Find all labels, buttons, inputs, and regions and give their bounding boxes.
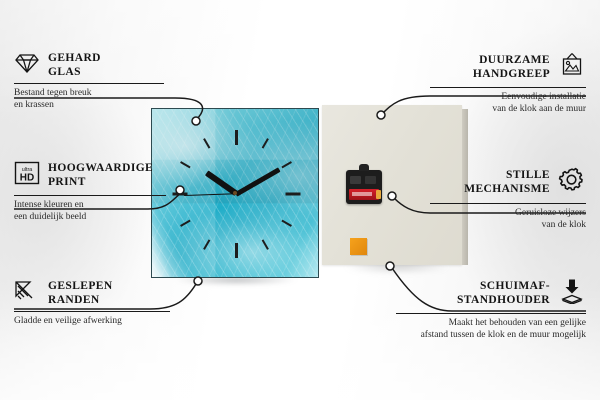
- foam-spacer-icon: [558, 278, 586, 309]
- callout-hoogwaardige-print: ultra HD HOOGWAARDIGE PRINT Intense kleu…: [14, 160, 166, 223]
- clock-tick: [235, 243, 238, 258]
- callout-title-line-2: RANDEN: [48, 294, 100, 306]
- callout-subtitle-line-2: een duidelijk beeld: [14, 212, 86, 222]
- picture-frame-hanger-icon: [558, 52, 586, 83]
- callout-title-line-1: HOOGWAARDIGE: [48, 162, 153, 174]
- callout-title-line-1: DUURZAME: [479, 54, 550, 66]
- movement-shaft: [359, 164, 369, 171]
- battery-label: [352, 192, 372, 196]
- callout-title-line-2: PRINT: [48, 176, 86, 188]
- callout-subtitle-line-1: Maakt het behouden van een gelijke: [449, 318, 586, 328]
- callout-divider: [14, 83, 164, 84]
- callout-title-line-2: MECHANISME: [464, 183, 550, 195]
- ultra-hd-icon-bottom: HD: [20, 173, 34, 184]
- movement-slot-right: [365, 176, 376, 184]
- gear-icon: [558, 166, 586, 199]
- callout-divider: [14, 195, 166, 196]
- callout-title-line-1: GESLEPEN: [48, 280, 113, 292]
- callout-title-line-2: HANDGREEP: [473, 68, 550, 80]
- callout-gehard-glas: GEHARD GLAS Bestand tegen breuk en krass…: [14, 52, 164, 111]
- clock-tick: [235, 130, 238, 145]
- callout-divider: [14, 311, 170, 312]
- callout-title-line-1: SCHUIMAF-: [480, 280, 550, 292]
- callout-subtitle-line-2: van de klok aan de muur: [492, 104, 586, 114]
- callout-title-line-2: GLAS: [48, 66, 81, 78]
- quartz-movement: [346, 170, 382, 204]
- diamond-icon: [14, 52, 40, 79]
- infographic-canvas: GEHARD GLAS Bestand tegen breuk en krass…: [0, 0, 600, 400]
- callout-stille-mechanisme: STILLE MECHANISME Geruisloze wijzers van…: [430, 166, 586, 231]
- wall-clock-image: [151, 108, 319, 278]
- callout-subtitle-line-1: Intense kleuren en: [14, 200, 84, 210]
- ultra-hd-icon: ultra HD: [14, 160, 40, 191]
- callout-divider: [430, 87, 586, 88]
- callout-subtitle-line-1: Gladde en veilige afwerking: [14, 316, 122, 326]
- callout-title-line-1: GEHARD: [48, 52, 101, 64]
- callout-subtitle-line-2: afstand tussen de klok en de muur mogeli…: [421, 330, 586, 340]
- bevelled-edge-icon: [14, 280, 40, 307]
- callout-subtitle-line-2: van de klok: [542, 220, 586, 230]
- callout-subtitle-line-2: en krassen: [14, 100, 54, 110]
- movement-slot-left: [350, 176, 361, 184]
- callout-subtitle-line-1: Eenvoudige installatie: [501, 92, 586, 102]
- callout-geslepen-randen: GESLEPEN RANDEN Gladde en veilige afwerk…: [14, 280, 170, 328]
- battery-positive-terminal: [376, 190, 381, 199]
- battery: [349, 189, 379, 200]
- callout-schuimafstandhouder: SCHUIMAF- STANDHOUDER Maakt het behouden…: [396, 278, 586, 341]
- callout-duurzame-handgreep: DUURZAME HANDGREEP Eenvoudige installati…: [430, 52, 586, 115]
- foam-spacer: [350, 238, 367, 255]
- callout-divider: [430, 203, 586, 204]
- callout-subtitle-line-1: Bestand tegen breuk: [14, 88, 92, 98]
- callout-title-line-1: STILLE: [506, 169, 550, 181]
- clock-tick: [285, 193, 300, 196]
- callout-title-line-2: STANDHOUDER: [457, 294, 550, 306]
- callout-subtitle-line-1: Geruisloze wijzers: [515, 208, 586, 218]
- callout-divider: [396, 313, 586, 314]
- clock-center-pin: [233, 191, 237, 195]
